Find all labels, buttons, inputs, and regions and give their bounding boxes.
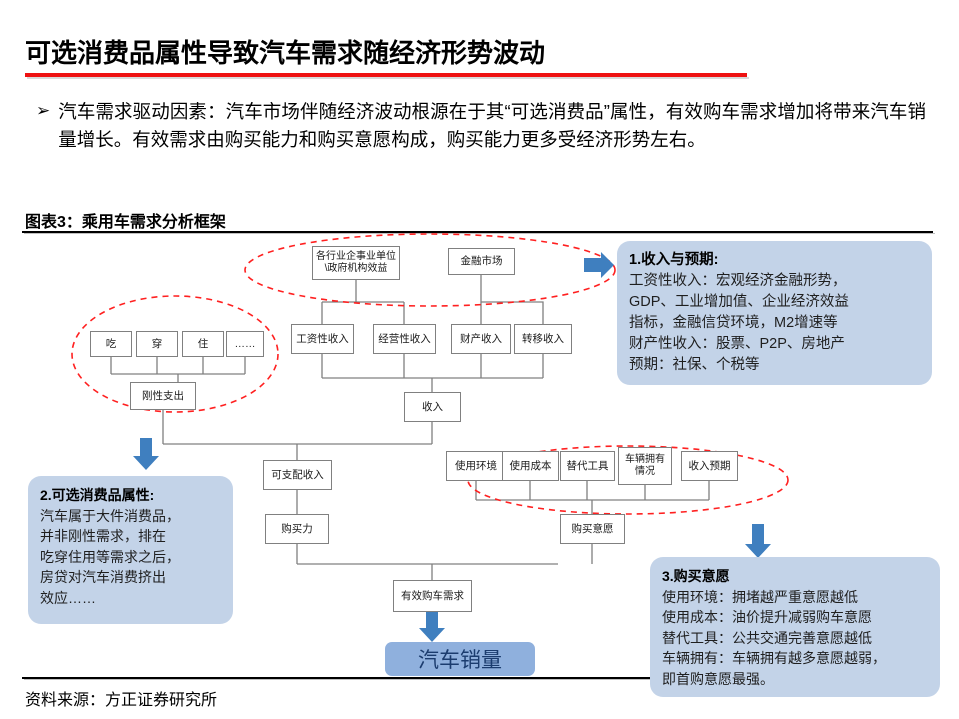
node-live[interactable]: 住: [182, 331, 224, 357]
node-effective-demand[interactable]: 有效购车需求: [393, 580, 472, 612]
callout-1-line-3: 指标，金融信贷环境，M2增速等: [629, 313, 921, 334]
highlight-ellipse-top: [245, 234, 615, 306]
node-vehicle-ownership[interactable]: 车辆拥有 情况: [618, 447, 672, 485]
source-note: 资料来源：方正证券研究所: [25, 686, 217, 710]
title-underline-shadow: [27, 77, 749, 79]
node-car-sales[interactable]: 汽车销量: [385, 642, 535, 676]
bullet-marker-icon: ➢: [36, 98, 50, 124]
node-transfer-income[interactable]: 转移收入: [514, 324, 572, 354]
callout-2-line-5: 效应……: [40, 588, 222, 609]
bullet-paragraph: 汽车需求驱动因素：汽车市场伴随经济波动根源在于其“可选消费品”属性，有效购车需求…: [58, 98, 926, 153]
node-wear[interactable]: 穿: [136, 331, 178, 357]
callout-3-line-2: 使用成本：油价提升减弱购车意愿: [662, 607, 929, 628]
node-purchase-will[interactable]: 购买意愿: [560, 514, 625, 544]
callout-1-head: 1.收入与预期:: [629, 250, 921, 271]
node-purchase-power[interactable]: 购买力: [265, 514, 329, 544]
node-enterprise[interactable]: 各行业企事业单位\政府机构效益: [312, 246, 400, 280]
arrow-down-left-icon: [133, 438, 159, 470]
node-substitute-tool[interactable]: 替代工具: [560, 451, 615, 481]
node-income-expectation[interactable]: 收入预期: [681, 451, 738, 481]
callout-2-line-3: 吃穿住用等需求之后，: [40, 547, 222, 568]
arrow-down-right-icon: [745, 524, 771, 558]
page-title: 可选消费品属性导致汽车需求随经济形势波动: [25, 33, 545, 70]
node-disposable-income[interactable]: 可支配收入: [263, 460, 332, 490]
figure-title: 图表3：乘用车需求分析框架: [25, 208, 226, 232]
node-wage-income[interactable]: 工资性收入: [291, 324, 354, 354]
callout-2-line-2: 并非刚性需求，排在: [40, 526, 222, 547]
node-property-income[interactable]: 财产收入: [451, 324, 511, 354]
callout-purchase-will: 3.购买意愿 使用环境：拥堵越严重意愿越低 使用成本：油价提升减弱购车意愿 替代…: [650, 557, 940, 697]
node-use-cost[interactable]: 使用成本: [502, 451, 559, 481]
callout-2-line-4: 房贷对汽车消费挤出: [40, 567, 222, 588]
callout-1-line-4: 财产性收入：股票、P2P、房地产: [629, 334, 921, 355]
arrow-down-sales-icon: [419, 612, 445, 642]
node-eat[interactable]: 吃: [90, 331, 132, 357]
callout-3-line-4: 车辆拥有：车辆拥有越多意愿越弱，: [662, 648, 929, 669]
callout-3-head: 3.购买意愿: [662, 566, 929, 587]
callout-2-head: 2.可选消费品属性:: [40, 485, 222, 506]
callout-1-line-1: 工资性收入：宏观经济金融形势，: [629, 271, 921, 292]
node-etc[interactable]: ……: [226, 331, 264, 357]
callout-income-expectation: 1.收入与预期: 工资性收入：宏观经济金融形势， GDP、工业增加值、企业经济效…: [617, 241, 932, 385]
callout-1-line-2: GDP、工业增加值、企业经济效益: [629, 292, 921, 313]
node-use-environment[interactable]: 使用环境: [446, 451, 506, 481]
callout-2-line-1: 汽车属于大件消费品，: [40, 506, 222, 527]
node-finance-market[interactable]: 金融市场: [448, 248, 515, 275]
bullet-block: ➢ 汽车需求驱动因素：汽车市场伴随经济波动根源在于其“可选消费品”属性，有效购车…: [36, 98, 926, 153]
demand-framework-diagram: 各行业企事业单位\政府机构效益 金融市场 工资性收入 经营性收入 财产收入 转移…: [0, 232, 959, 677]
callout-3-line-3: 替代工具：公共交通完善意愿越低: [662, 628, 929, 649]
node-business-income[interactable]: 经营性收入: [373, 324, 436, 354]
callout-3-line-1: 使用环境：拥堵越严重意愿越低: [662, 587, 929, 608]
slide-root: 可选消费品属性导致汽车需求随经济形势波动 ➢ 汽车需求驱动因素：汽车市场伴随经济…: [0, 0, 959, 719]
callout-3-line-5: 即首购意愿最强。: [662, 669, 929, 690]
callout-1-line-5: 预期：社保、个税等: [629, 355, 921, 376]
node-income[interactable]: 收入: [404, 392, 461, 422]
node-rigid-expense[interactable]: 刚性支出: [130, 382, 196, 410]
callout-optional-consumption: 2.可选消费品属性: 汽车属于大件消费品， 并非刚性需求，排在 吃穿住用等需求之…: [28, 476, 233, 624]
